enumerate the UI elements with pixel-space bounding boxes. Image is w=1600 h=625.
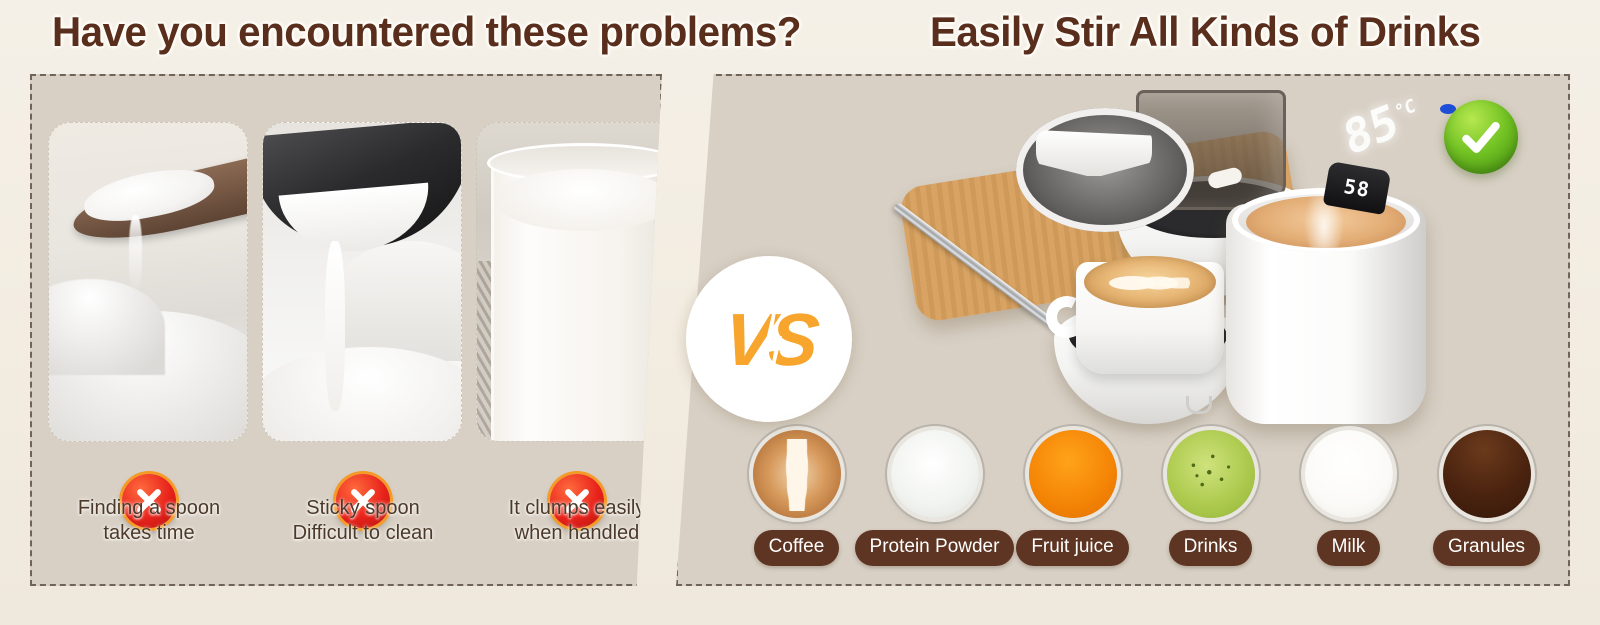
infographic-canvas: Have you encountered these problems? Eas… — [0, 0, 1600, 625]
right-headline: Easily Stir All Kinds of Drinks — [930, 8, 1481, 56]
problem-caption-1: Finding a spoon takes time — [39, 496, 259, 546]
drink-label: Protein Powder — [855, 530, 1015, 566]
coffee-latte-art-icon — [753, 430, 841, 518]
milk-surface — [495, 169, 662, 231]
orange-juice-icon — [1029, 430, 1117, 518]
matcha-drink-icon — [1167, 430, 1255, 518]
problem-caption-3: It clumps easily when handled — [467, 496, 662, 546]
drink-item-milk[interactable]: Milk — [1297, 430, 1400, 566]
falling-powder — [129, 215, 142, 293]
pouring-stream — [325, 241, 345, 411]
drink-item-coffee[interactable]: Coffee — [745, 430, 848, 566]
caption-line: It clumps easily — [467, 496, 662, 521]
drink-item-protein-powder[interactable]: Protein Powder — [883, 430, 986, 566]
caption-line: Sticky spoon — [253, 496, 473, 521]
problem-photo-scoop — [48, 122, 248, 442]
green-check-icon — [1444, 100, 1518, 174]
granules-icon — [1443, 430, 1531, 518]
problem-photo-ladle — [262, 122, 462, 442]
problem-caption-2: Sticky spoon Difficult to clean — [253, 496, 473, 546]
temperature-callout: 85°C — [1338, 74, 1459, 190]
caption-line: takes time — [39, 521, 259, 546]
drink-item-granules[interactable]: Granules — [1435, 430, 1538, 566]
protein-powder-icon — [891, 430, 979, 518]
base-clip — [1186, 396, 1212, 414]
latte-art — [1108, 266, 1190, 300]
caption-line: when handled — [467, 521, 662, 546]
drink-label: Coffee — [754, 530, 840, 566]
background-pot — [331, 241, 462, 361]
drink-item-fruit-juice[interactable]: Fruit juice — [1021, 430, 1124, 566]
caption-line: Finding a spoon — [39, 496, 259, 521]
drink-label: Granules — [1433, 530, 1540, 566]
drink-label: Fruit juice — [1016, 530, 1128, 566]
callout-unit: °C — [1392, 95, 1417, 124]
powder-mound-back — [48, 279, 165, 375]
problem-photo-row — [48, 122, 662, 442]
drink-types-row: Coffee Protein Powder Fruit juice Drinks… — [745, 430, 1538, 566]
drink-label: Milk — [1317, 530, 1381, 566]
lightning-bolt-icon — [760, 262, 790, 420]
milk-pool — [262, 347, 462, 442]
problems-panel: Finding a spoon takes time Sticky spoon … — [30, 74, 662, 586]
milk-icon — [1305, 430, 1393, 518]
drink-item-drinks[interactable]: Drinks — [1159, 430, 1262, 566]
caption-line: Difficult to clean — [253, 521, 473, 546]
problem-photo-milk-glass — [476, 122, 662, 442]
left-headline: Have you encountered these problems? — [52, 8, 801, 56]
vs-badge: VS — [686, 256, 852, 422]
drink-label: Drinks — [1169, 530, 1253, 566]
